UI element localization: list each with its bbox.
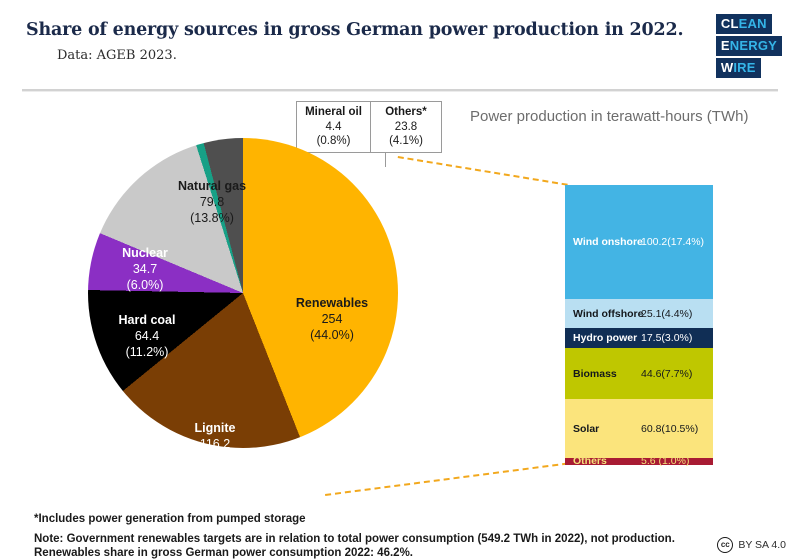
bar-value-wind-offshore: 25.1(4.4%) [641,308,692,320]
connector-line-top [398,156,568,186]
pie-label-natural-gas-pct: (13.8%) [190,211,234,225]
pie-label-lignite-name: Lignite [160,420,270,436]
pie-label-natural-gas: Natural gas 79.8 (13.8%) [152,178,272,226]
pie-label-lignite-value: 116.2 [200,437,230,451]
logo-line3-prefix: W [721,60,733,75]
footer: *Includes power generation from pumped s… [0,505,800,559]
pie-label-lignite-pct: (20.1%) [193,453,237,467]
callout-others-value: 23.8 [395,121,417,133]
bar-segment-solar: Solar 60.8(10.5%) [565,399,713,458]
pie-label-hard-coal-pct: (11.2%) [126,345,169,359]
header: Share of energy sources in gross German … [0,0,800,90]
infographic-card: Share of energy sources in gross German … [0,0,800,559]
pie-label-renewables-value: 254 [322,312,343,326]
logo-line-wire: WIRE [716,58,761,78]
logo-line2-prefix: E [721,38,730,53]
pie-label-nuclear-pct: (6.0%) [127,278,164,292]
unit-caption: Power production in terawatt-hours (TWh) [470,108,748,125]
bar-label-biomass: Biomass [573,368,617,380]
bar-label-wind-offshore: Wind offshore [573,308,643,320]
logo-line1-suffix: EAN [739,16,767,31]
footnote-note: Note: Government renewables targets are … [34,532,675,560]
bar-label-solar: Solar [573,423,599,435]
bar-value-others: 5.6 (1.0%) [641,455,689,467]
logo-line1-prefix: CL [721,16,739,31]
chart-area: Power production in terawatt-hours (TWh)… [0,90,800,505]
pie-label-renewables: Renewables 254 (44.0%) [272,295,392,343]
pie-label-hard-coal: Hard coal 64.4 (11.2%) [92,312,202,360]
logo-line-energy: ENERGY [716,36,782,56]
bar-segment-wind-offshore: Wind offshore 25.1(4.4%) [565,299,713,328]
footnote-note-line2: Renewables share in gross German power c… [34,547,413,559]
callout-others-name: Others* [371,105,441,120]
bar-segment-wind-onshore: Wind onshore 100.2(17.4%) [565,185,713,299]
connector-line-bottom [325,462,568,496]
clean-energy-wire-logo: CLEAN ENERGY WIRE [716,14,782,78]
bar-label-others: Others [573,455,607,467]
callout-mineral-oil-name: Mineral oil [297,105,370,120]
bar-segment-others: Others 5.6 (1.0%) [565,458,713,465]
page-title: Share of energy sources in gross German … [26,20,683,40]
pie-label-nuclear-name: Nuclear [95,245,195,261]
pie-label-renewables-name: Renewables [272,295,392,311]
license-text: BY SA 4.0 [738,539,786,551]
pie-label-lignite: Lignite 116.2 (20.1%) [160,420,270,468]
creative-commons-icon: cc [717,537,733,553]
bar-value-wind-onshore: 100.2(17.4%) [641,236,704,248]
license-badge: cc BY SA 4.0 [717,537,786,553]
pie-label-hard-coal-name: Hard coal [92,312,202,328]
bar-value-hydro-power: 17.5(3.0%) [641,332,692,344]
bar-label-wind-onshore: Wind onshore [573,236,643,248]
pie-label-nuclear: Nuclear 34.7 (6.0%) [95,245,195,293]
pie-label-natural-gas-name: Natural gas [152,178,272,194]
footnote-asterisk: *Includes power generation from pumped s… [34,513,306,525]
pie-label-hard-coal-value: 64.4 [135,329,159,343]
pie-label-renewables-pct: (44.0%) [310,328,354,342]
logo-line3-suffix: IRE [733,60,755,75]
bar-value-biomass: 44.6(7.7%) [641,368,692,380]
logo-line-clean: CLEAN [716,14,772,34]
logo-line2-suffix: NERGY [730,38,777,53]
footnote-note-line1: Note: Government renewables targets are … [34,533,675,545]
renewables-breakdown-bar: Wind onshore 100.2(17.4%) Wind offshore … [565,185,713,465]
callout-mineral-oil-value: 4.4 [326,121,342,133]
bar-segment-hydro-power: Hydro power 17.5(3.0%) [565,328,713,348]
bar-label-hydro-power: Hydro power [573,332,637,344]
bar-value-solar: 60.8(10.5%) [641,423,698,435]
data-source-subtitle: Data: AGEB 2023. [57,48,177,63]
bar-segment-biomass: Biomass 44.6(7.7%) [565,348,713,399]
pie-label-natural-gas-value: 79.8 [200,195,224,209]
pie-label-nuclear-value: 34.7 [133,262,157,276]
